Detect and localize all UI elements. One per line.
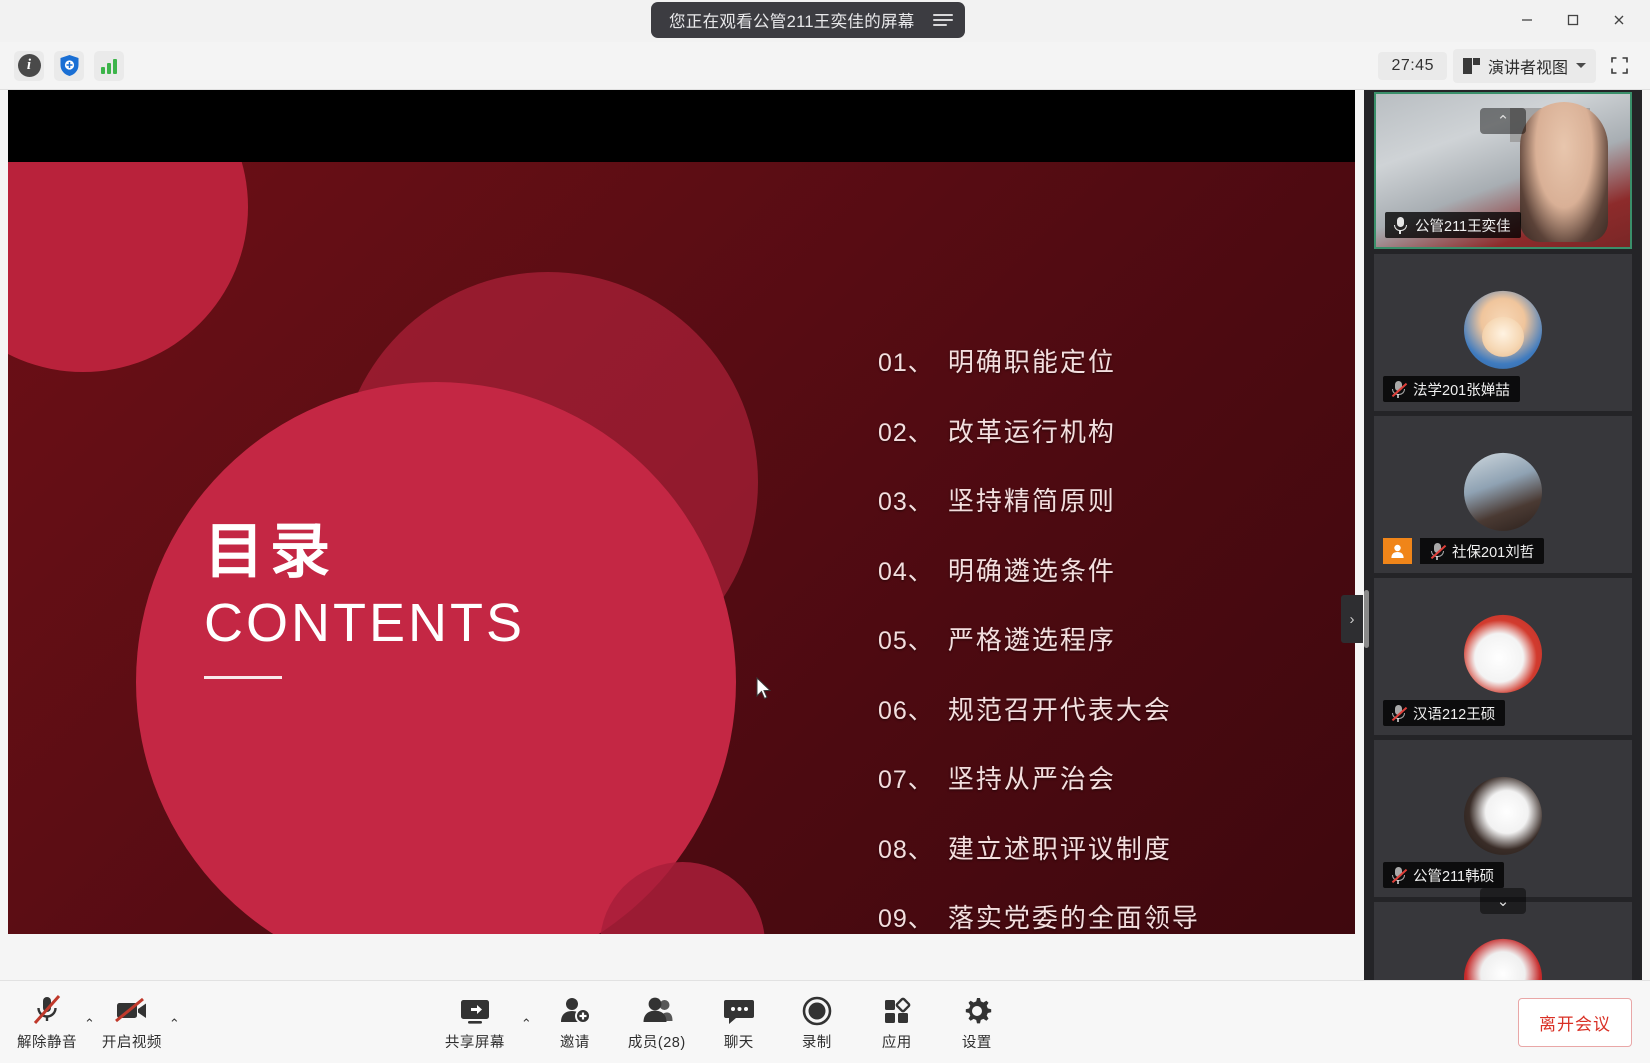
- share-options-chevron-up-icon[interactable]: ⌃: [517, 1016, 536, 1032]
- participant-tile[interactable]: 公管211韩硕: [1374, 740, 1632, 897]
- controls-left-group: 解除静音 ⌃ 开启视频 ⌃: [0, 993, 184, 1052]
- settings-label: 设置: [962, 1031, 992, 1052]
- scroll-up-button[interactable]: ⌃: [1480, 108, 1526, 134]
- participant-name: 公管211王奕佳: [1415, 215, 1511, 236]
- participant-name-bar: 社保201刘哲: [1383, 538, 1554, 564]
- mic-muted-icon: [1391, 381, 1405, 398]
- record-icon: [800, 993, 834, 1027]
- list-item-number: 01、: [878, 343, 934, 379]
- gear-icon: [960, 993, 994, 1027]
- participant-face: [1520, 102, 1608, 242]
- list-item-number: 08、: [878, 830, 934, 866]
- list-item-number: 04、: [878, 552, 934, 588]
- start-video-label: 开启视频: [102, 1031, 162, 1052]
- record-label: 录制: [802, 1031, 832, 1052]
- close-button[interactable]: [1596, 4, 1642, 36]
- list-item-number: 02、: [878, 413, 934, 449]
- layout-icon: [1463, 58, 1480, 74]
- apps-button[interactable]: 应用: [858, 993, 936, 1052]
- share-screen-label: 共享屏幕: [445, 1031, 505, 1052]
- slide-title-cn: 目录: [204, 517, 525, 586]
- avatar: [1464, 614, 1542, 692]
- shared-screen-stage[interactable]: 锁定画面 目录 CONTENTS 01、 明确职能定位 02、 改革运行机构: [8, 90, 1355, 934]
- unmute-button[interactable]: 解除静音: [16, 993, 78, 1052]
- invite-label: 邀请: [560, 1031, 590, 1052]
- scroll-down-button[interactable]: ⌄: [1480, 888, 1526, 914]
- list-item-text: 明确职能定位: [948, 342, 1116, 379]
- avatar: [1464, 290, 1542, 368]
- strip-expander-button[interactable]: ›: [1341, 595, 1363, 643]
- list-item: 03、 坚持精简原则: [878, 481, 1200, 518]
- avatar: [1464, 776, 1542, 854]
- mic-muted-icon: [1430, 543, 1444, 560]
- list-item: 09、 落实党委的全面领导: [878, 898, 1200, 934]
- video-options-chevron-up-icon[interactable]: ⌃: [165, 1016, 184, 1032]
- fullscreen-icon: [1610, 56, 1629, 75]
- participant-tile[interactable]: 汉语212王硕: [1374, 578, 1632, 735]
- list-item-text: 建立述职评议制度: [948, 829, 1172, 866]
- meeting-controls-bar: 解除静音 ⌃ 开启视频 ⌃: [0, 980, 1650, 1063]
- participant-name: 法学201张婵喆: [1413, 379, 1510, 400]
- participant-name-bar: 法学201张婵喆: [1383, 376, 1520, 402]
- mouse-cursor-icon: [756, 677, 772, 706]
- participant-name-bar: 公管211王奕佳: [1385, 212, 1521, 238]
- name-inner: 社保201刘哲: [1420, 538, 1544, 564]
- hamburger-icon[interactable]: [933, 14, 953, 26]
- toolbar-left-icons: i: [0, 51, 124, 81]
- list-item: 02、 改革运行机构: [878, 412, 1200, 449]
- shield-icon: [59, 54, 80, 77]
- chat-label: 聊天: [724, 1031, 754, 1052]
- leave-meeting-button[interactable]: 离开会议: [1518, 998, 1632, 1047]
- info-button[interactable]: i: [14, 51, 44, 81]
- audio-options-chevron-up-icon[interactable]: ⌃: [80, 1016, 99, 1032]
- title-underline: [204, 676, 282, 679]
- avatar: [1464, 938, 1542, 980]
- participant-name: 汉语212王硕: [1413, 703, 1495, 724]
- watching-screen-label: 您正在观看公管211王奕佳的屏幕: [669, 8, 915, 32]
- list-item-text: 坚持从严治会: [948, 759, 1116, 796]
- decorative-circle: [8, 162, 248, 372]
- participant-name: 社保201刘哲: [1452, 541, 1534, 562]
- list-item: 08、 建立述职评议制度: [878, 829, 1200, 866]
- title-bar: 您正在观看公管211王奕佳的屏幕: [0, 0, 1650, 42]
- list-item-number: 05、: [878, 621, 934, 657]
- mic-muted-icon: [1391, 705, 1405, 722]
- controls-right-group: 离开会议: [1518, 998, 1650, 1047]
- list-item-text: 明确遴选条件: [948, 551, 1116, 588]
- mic-muted-icon: [1391, 867, 1405, 884]
- share-screen-button[interactable]: 共享屏幕: [435, 993, 515, 1052]
- list-item: 07、 坚持从严治会: [878, 759, 1200, 796]
- slide-contents-list: 01、 明确职能定位 02、 改革运行机构 03、 坚持精简原则 04、 明确遴…: [878, 342, 1200, 934]
- secondary-toolbar: i 27:45 演讲者视图: [0, 42, 1650, 90]
- people-icon: [640, 993, 674, 1027]
- list-item-text: 规范召开代表大会: [948, 690, 1172, 727]
- info-icon: i: [18, 54, 41, 77]
- list-item-number: 03、: [878, 482, 934, 518]
- list-item-text: 严格遴选程序: [948, 620, 1116, 657]
- unmute-label: 解除静音: [17, 1031, 77, 1052]
- strip-resize-handle[interactable]: [1364, 590, 1369, 648]
- apps-grid-icon: [880, 993, 914, 1027]
- list-item-number: 06、: [878, 691, 934, 727]
- start-video-button[interactable]: 开启视频: [101, 993, 163, 1052]
- list-item: 05、 严格遴选程序: [878, 620, 1200, 657]
- participant-name-bar: 汉语212王硕: [1383, 700, 1505, 726]
- signal-bars-icon: [101, 57, 117, 74]
- host-badge-icon: [1383, 538, 1412, 564]
- camera-off-icon: [113, 993, 151, 1027]
- chevron-down-icon: [1576, 63, 1586, 68]
- participant-tile[interactable]: 社保201刘哲: [1374, 416, 1632, 573]
- chat-button[interactable]: 聊天: [702, 993, 776, 1052]
- list-item-number: 07、: [878, 760, 934, 796]
- slide-title-group: 目录 CONTENTS: [204, 517, 525, 679]
- stage-topbar: [8, 90, 1355, 162]
- participant-tile[interactable]: 法学201张婵喆: [1374, 254, 1632, 411]
- security-button[interactable]: [54, 51, 84, 81]
- view-mode-label: 演讲者视图: [1488, 54, 1568, 78]
- settings-button[interactable]: 设置: [938, 993, 1016, 1052]
- watching-screen-banner[interactable]: 您正在观看公管211王奕佳的屏幕: [651, 2, 965, 38]
- mic-icon: [1393, 217, 1407, 234]
- participants-label: 成员(28): [628, 1031, 686, 1052]
- meeting-window: 您正在观看公管211王奕佳的屏幕 i: [0, 0, 1650, 1063]
- network-status-button[interactable]: [94, 51, 124, 81]
- presentation-slide: 目录 CONTENTS 01、 明确职能定位 02、 改革运行机构 03、 坚持…: [8, 162, 1355, 934]
- list-item-text: 坚持精简原则: [948, 481, 1116, 518]
- participant-name: 公管211韩硕: [1413, 865, 1494, 886]
- invite-button[interactable]: 邀请: [538, 993, 612, 1052]
- meeting-timer: 27:45: [1378, 52, 1447, 80]
- participants-button[interactable]: 成员(28): [614, 993, 700, 1052]
- person-add-icon: [558, 993, 592, 1027]
- participant-name-bar: 公管211韩硕: [1383, 862, 1504, 888]
- list-item: 06、 规范召开代表大会: [878, 690, 1200, 727]
- list-item-number: 09、: [878, 899, 934, 934]
- window-controls: [1504, 4, 1642, 36]
- toolbar-right-controls: 27:45 演讲者视图: [1378, 49, 1650, 83]
- chat-bubble-icon: [722, 993, 756, 1027]
- record-button[interactable]: 录制: [778, 993, 856, 1052]
- mic-muted-icon: [30, 993, 64, 1027]
- participant-strip[interactable]: ⌃ 公管211王奕佳 法学201张婵喆: [1364, 90, 1642, 980]
- list-item-text: 落实党委的全面领导: [948, 898, 1200, 934]
- list-item: 04、 明确遴选条件: [878, 551, 1200, 588]
- list-item-text: 改革运行机构: [948, 412, 1116, 449]
- fullscreen-button[interactable]: [1602, 50, 1636, 82]
- minimize-button[interactable]: [1504, 4, 1550, 36]
- apps-label: 应用: [882, 1031, 912, 1052]
- avatar: [1464, 452, 1542, 530]
- view-mode-selector[interactable]: 演讲者视图: [1453, 49, 1596, 83]
- slide-title-en: CONTENTS: [204, 592, 525, 654]
- share-screen-icon: [458, 993, 492, 1027]
- controls-center-group: 共享屏幕 ⌃ 邀请: [435, 993, 1016, 1052]
- list-item: 01、 明确职能定位: [878, 342, 1200, 379]
- maximize-button[interactable]: [1550, 4, 1596, 36]
